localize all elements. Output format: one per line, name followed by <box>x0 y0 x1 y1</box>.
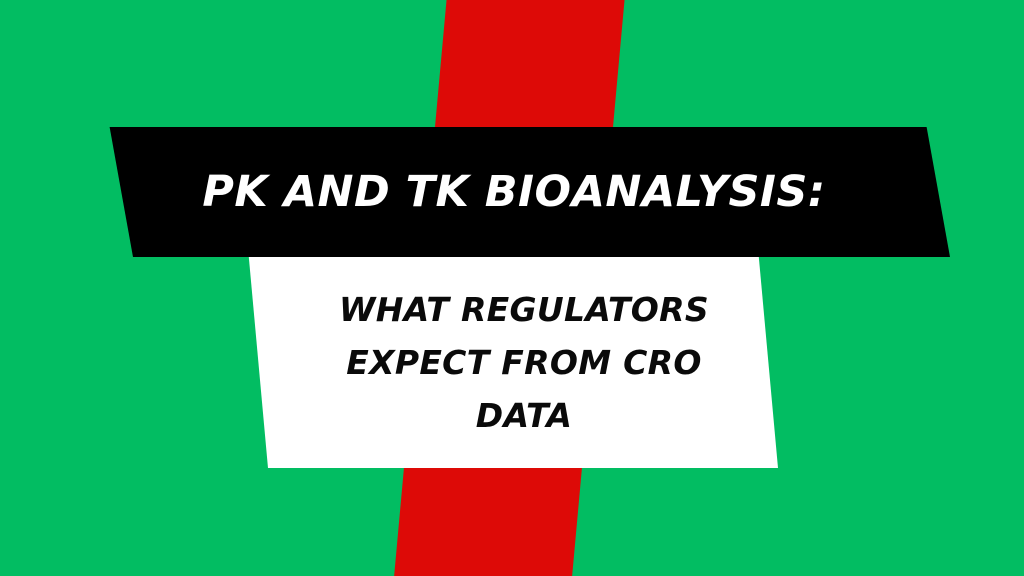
subtitle-white-box <box>249 257 778 468</box>
title-black-band <box>110 127 950 257</box>
title-slide: PK AND TK BIOANALYSIS: WHAT REGULATORS E… <box>0 0 1024 576</box>
